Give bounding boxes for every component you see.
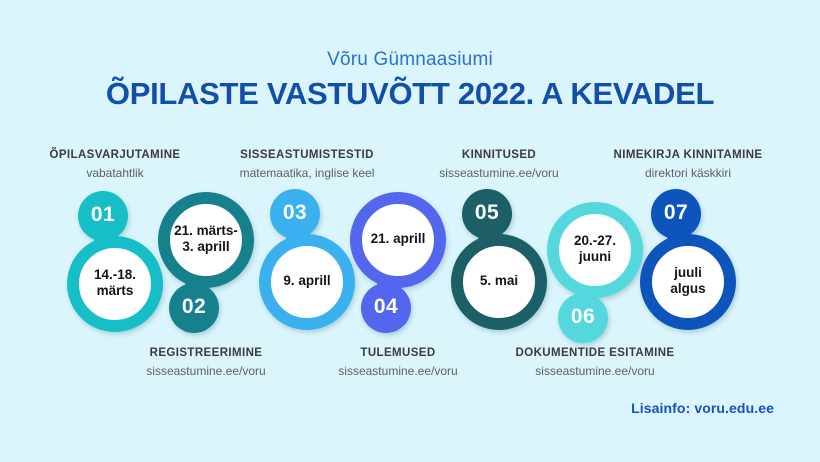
step-date-line-1: juuli [613,265,763,281]
step-caption: REGISTREERIMINEsisseastumine.ee/voru [106,346,306,379]
step-date: juulialgus [613,265,763,297]
step-caption: DOKUMENTIDE ESITAMINEsisseastumine.ee/vo… [495,346,695,379]
admission-timeline: ÕPILASVARJUTAMINEvabatahtlik0114.-18.mär… [0,0,820,462]
step-caption-subtitle: sisseastumine.ee/voru [298,363,498,379]
step-caption-subtitle: matemaatika, inglise keel [207,165,407,181]
step-caption-title: DOKUMENTIDE ESITAMINE [495,346,695,361]
step-caption-title: KINNITUSED [399,148,599,163]
step-caption-subtitle: sisseastumine.ee/voru [399,165,599,181]
step-caption-subtitle: direktori käskkiri [588,165,788,181]
step-date-line-2: algus [613,281,763,297]
step-number: 07 [601,201,751,225]
step-caption: ÕPILASVARJUTAMINEvabatahtlik [15,148,215,181]
step-caption-title: REGISTREERIMINE [106,346,306,361]
step-caption-subtitle: sisseastumine.ee/voru [495,363,695,379]
step-caption: NIMEKIRJA KINNITAMINEdirektori käskkiri [588,148,788,181]
step-caption-title: NIMEKIRJA KINNITAMINE [588,148,788,163]
step-caption-title: SISSEASTUMISTESTID [207,148,407,163]
step-caption-title: ÕPILASVARJUTAMINE [15,148,215,163]
step-caption-subtitle: vabatahtlik [15,165,215,181]
step-caption: KINNITUSEDsisseastumine.ee/voru [399,148,599,181]
step-caption: TULEMUSEDsisseastumine.ee/voru [298,346,498,379]
more-info-link[interactable]: Lisainfo: voru.edu.ee [631,400,774,416]
step-caption: SISSEASTUMISTESTIDmatemaatika, inglise k… [207,148,407,181]
step-caption-subtitle: sisseastumine.ee/voru [106,363,306,379]
step-caption-title: TULEMUSED [298,346,498,361]
